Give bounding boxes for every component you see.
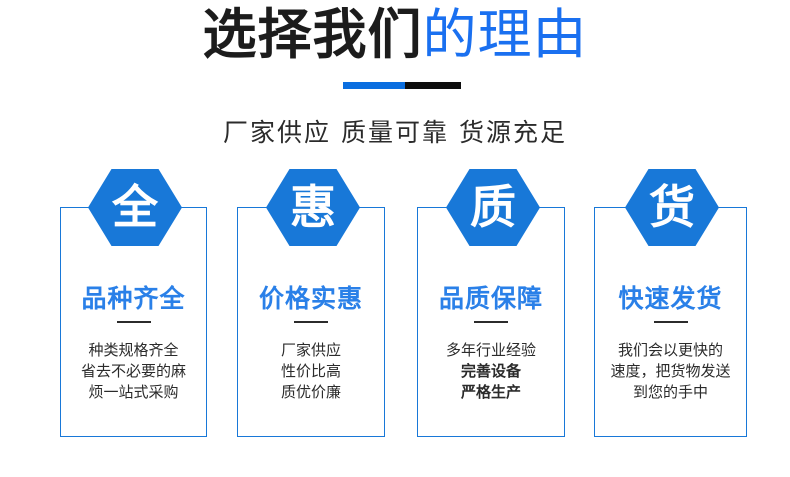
feature-card: 全 品种齐全 种类规格齐全 省去不必要的麻 烦一站式采购 (60, 207, 207, 437)
description-line: 性价比高 (238, 361, 384, 382)
feature-card-divider (654, 321, 688, 323)
description-line: 多年行业经验 (418, 340, 564, 361)
description-line: 质优价廉 (238, 382, 384, 403)
description-line: 严格生产 (418, 382, 564, 403)
feature-card-title: 快速发货 (595, 279, 746, 315)
feature-card-divider (294, 321, 328, 323)
hexagon-badge-icon: 全 (88, 169, 182, 246)
feature-card: 惠 价格实惠 厂家供应 性价比高 质优价廉 (237, 207, 385, 437)
feature-card-title: 价格实惠 (238, 279, 384, 315)
feature-card-divider (117, 321, 151, 323)
feature-card-description: 种类规格齐全 省去不必要的麻 烦一站式采购 (61, 340, 206, 403)
feature-card-title: 品质保障 (418, 279, 564, 315)
description-line: 种类规格齐全 (61, 340, 206, 361)
feature-card-list: 全 品种齐全 种类规格齐全 省去不必要的麻 烦一站式采购 惠 价格实惠 厂家供应… (0, 0, 790, 477)
description-line: 烦一站式采购 (61, 382, 206, 403)
hexagon-badge-icon: 货 (625, 169, 719, 246)
description-line: 完善设备 (418, 361, 564, 382)
hexagon-badge-icon: 质 (446, 169, 540, 246)
hexagon-badge-icon: 惠 (266, 169, 360, 246)
feature-card: 货 快速发货 我们会以更快的 速度，把货物发送 到您的手中 (594, 207, 747, 437)
feature-card: 质 品质保障 多年行业经验 完善设备 严格生产 (417, 207, 565, 437)
feature-card-description: 多年行业经验 完善设备 严格生产 (418, 340, 564, 403)
feature-card-description: 厂家供应 性价比高 质优价廉 (238, 340, 384, 403)
feature-card-title: 品种齐全 (61, 279, 206, 315)
feature-card-description: 我们会以更快的 速度，把货物发送 到您的手中 (595, 340, 746, 403)
feature-card-divider (474, 321, 508, 323)
description-line: 省去不必要的麻 (61, 361, 206, 382)
description-line: 我们会以更快的 (595, 340, 746, 361)
description-line: 到您的手中 (595, 382, 746, 403)
description-line: 速度，把货物发送 (595, 361, 746, 382)
promo-banner: 选择我们的理由 厂家供应 质量可靠 货源充足 全 品种齐全 种类规格齐全 省去不… (0, 0, 790, 477)
description-line: 厂家供应 (238, 340, 384, 361)
